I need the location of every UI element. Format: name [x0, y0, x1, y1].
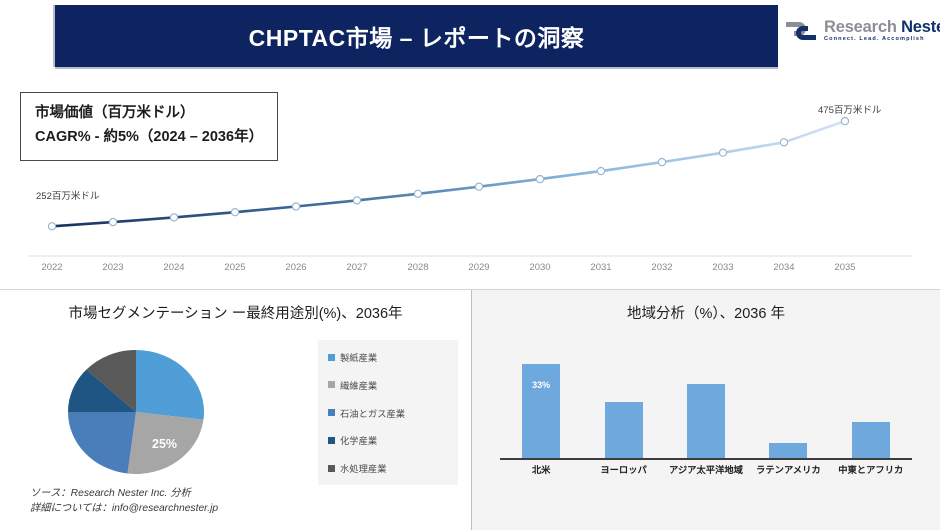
x-axis-tick: 2029: [468, 262, 489, 273]
line-data-point: [414, 190, 421, 197]
source-line-2: 詳細については：info@researchnester.jp: [30, 501, 218, 516]
market-value-callout: 市場価値（百万米ドル） CAGR% - 約5%（2024 – 2036年）: [20, 92, 278, 161]
line-chart-x-axis: 2022202320242025202620272028202920302031…: [0, 262, 940, 284]
brand-logo: Research Nester Connect. Lead. Accomplis…: [784, 13, 936, 49]
bar-column: [750, 350, 826, 460]
bar-category-label: ヨーロッパ: [586, 462, 662, 476]
bar-column: [668, 350, 744, 460]
logo-text: Research Nester Connect. Lead. Accomplis…: [824, 19, 940, 43]
bar-column: [586, 350, 662, 460]
bar-value-label: 33%: [522, 380, 560, 390]
logo-mark-icon: [784, 18, 818, 44]
line-data-point: [841, 118, 848, 125]
line-data-point: [231, 209, 238, 216]
x-axis-tick: 2035: [834, 262, 855, 273]
x-axis-tick: 2034: [773, 262, 794, 273]
bar-chart: 33%: [500, 342, 912, 460]
bar: [605, 402, 643, 460]
bar: [687, 384, 725, 460]
callout-cagr: CAGR% - 約5%（2024 – 2036年）: [35, 126, 263, 150]
line-data-point: [475, 183, 482, 190]
x-axis-tick: 2033: [712, 262, 733, 273]
logo-wordmark: Research Nester: [824, 19, 940, 36]
bar-chart-baseline: [500, 458, 912, 460]
legend-item-label: 石油とガス産業: [340, 406, 405, 420]
pie-chart: 25%: [60, 342, 212, 482]
region-panel: 地域分析（%）、2036 年 33% 北米ヨーロッパアジア太平洋地域ラテンアメリ…: [472, 290, 940, 530]
line-data-point: [170, 214, 177, 221]
header-banner: CHPTAC市場 – レポートの洞察: [55, 5, 778, 67]
region-title: 地域分析（%）、2036 年: [472, 302, 940, 323]
pie-slice-value-label: 25%: [152, 437, 177, 451]
source-line-1: ソース：Research Nester Inc. 分析: [30, 486, 218, 501]
bar-chart-x-axis: 北米ヨーロッパアジア太平洋地域ラテンアメリカ中東とアフリカ: [500, 462, 912, 476]
segmentation-title: 市場セグメンテーション ー最終用途別(%)、2036年: [0, 302, 471, 323]
line-data-point: [292, 203, 299, 210]
legend-item[interactable]: 化学産業: [328, 433, 452, 447]
bar: [852, 422, 890, 460]
legend-item-label: 水処理産業: [340, 461, 387, 475]
line-data-point: [780, 139, 787, 146]
header: CHPTAC市場 – レポートの洞察 Research Nester Conne…: [0, 0, 940, 72]
x-axis-tick: 2023: [102, 262, 123, 273]
line-data-point: [719, 149, 726, 156]
x-axis-tick: 2032: [651, 262, 672, 273]
x-axis-tick: 2026: [285, 262, 306, 273]
line-chart-panel: 市場価値（百万米ドル） CAGR% - 約5%（2024 – 2036年） 25…: [0, 72, 940, 289]
segmentation-panel: 市場セグメンテーション ー最終用途別(%)、2036年 25% 製紙産業繊維産業…: [0, 290, 472, 530]
bar-category-label: 中東とアフリカ: [833, 462, 909, 476]
line-data-point: [658, 159, 665, 166]
bar: [769, 443, 807, 461]
line-first-value-label: 252百万米ドル: [36, 188, 99, 202]
bar: 33%: [522, 364, 560, 460]
x-axis-tick: 2024: [163, 262, 184, 273]
line-last-value-label: 475百万米ドル: [818, 102, 881, 116]
x-axis-tick: 2022: [41, 262, 62, 273]
x-axis-tick: 2027: [346, 262, 367, 273]
logo-tagline: Connect. Lead. Accomplish: [824, 37, 940, 43]
pie-slice: [136, 350, 204, 420]
legend-swatch-icon: [328, 409, 335, 416]
infographic-page: CHPTAC市場 – レポートの洞察 Research Nester Conne…: [0, 0, 940, 529]
page-title: CHPTAC市場 – レポートの洞察: [249, 19, 585, 53]
callout-market-value: 市場価値（百万米ドル）: [35, 102, 263, 126]
bar-category-label: ラテンアメリカ: [750, 462, 826, 476]
legend-item-label: 製紙産業: [340, 350, 377, 364]
pie-chart-svg: [60, 342, 212, 482]
pie-legend: 製紙産業繊維産業石油とガス産業化学産業水処理産業: [318, 340, 458, 485]
x-axis-tick: 2030: [529, 262, 550, 273]
legend-item[interactable]: 水処理産業: [328, 461, 452, 475]
bar-category-label: 北米: [503, 462, 579, 476]
legend-item-label: 繊維産業: [340, 378, 377, 392]
bar-category-label: アジア太平洋地域: [668, 462, 744, 476]
legend-item-label: 化学産業: [340, 433, 377, 447]
source-note: ソース：Research Nester Inc. 分析 詳細については：info…: [30, 486, 218, 517]
legend-swatch-icon: [328, 465, 335, 472]
legend-item[interactable]: 繊維産業: [328, 378, 452, 392]
line-data-point: [353, 197, 360, 204]
bottom-section: 市場セグメンテーション ー最終用途別(%)、2036年 25% 製紙産業繊維産業…: [0, 289, 940, 530]
bar-column: 33%: [503, 350, 579, 460]
line-data-point: [536, 176, 543, 183]
legend-swatch-icon: [328, 437, 335, 444]
line-data-point: [597, 168, 604, 175]
logo-word-nester: Nester: [901, 18, 940, 36]
line-data-point: [48, 223, 55, 230]
x-axis-tick: 2031: [590, 262, 611, 273]
legend-item[interactable]: 製紙産業: [328, 350, 452, 364]
bar-chart-bars: 33%: [500, 350, 912, 460]
legend-item[interactable]: 石油とガス産業: [328, 406, 452, 420]
x-axis-tick: 2025: [224, 262, 245, 273]
pie-slice: [68, 412, 136, 474]
x-axis-tick: 2028: [407, 262, 428, 273]
legend-swatch-icon: [328, 381, 335, 388]
line-data-point: [109, 219, 116, 226]
bar-column: [833, 350, 909, 460]
legend-swatch-icon: [328, 354, 335, 361]
logo-word-research: Research: [824, 18, 897, 36]
